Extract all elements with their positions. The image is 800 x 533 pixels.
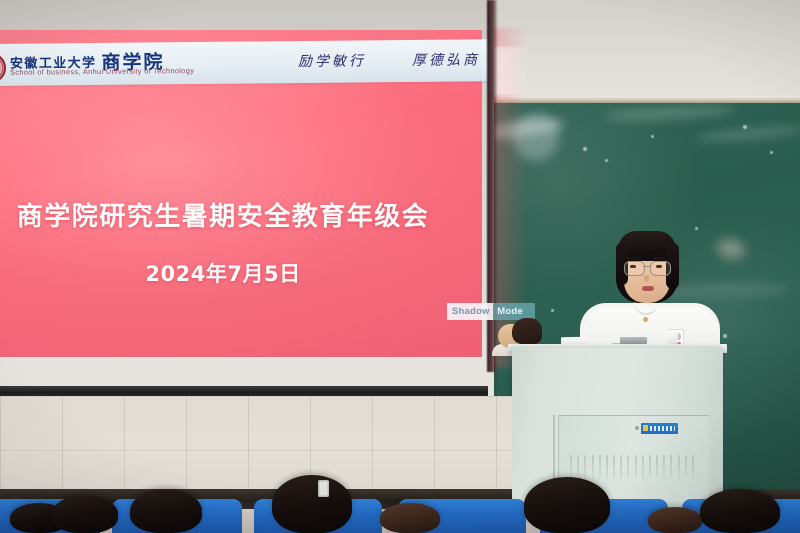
- vent-slat: [692, 455, 694, 479]
- vent-slat: [613, 455, 615, 479]
- vent-slat: [678, 455, 680, 479]
- projection-screen: 商学院研究生暑期安全教育年级会 2024年7月5日 安徽工业大学商学院 Scho…: [0, 0, 494, 398]
- vent-slat: [606, 455, 608, 479]
- shadow-mode-badge-left: Shadow: [447, 303, 493, 320]
- slogan-left: 励学敏行: [298, 50, 366, 71]
- wall-tile-grid: [0, 396, 512, 496]
- speaker-eyebrow-left: [627, 257, 639, 259]
- institution-name-en: School of business, Anhui University of …: [10, 66, 194, 77]
- sticker-text-lines: [650, 426, 675, 431]
- eyeglasses-icon: [623, 261, 673, 274]
- glasses-bridge: [643, 266, 650, 267]
- audience-head: [380, 503, 440, 533]
- sticker-mark: [643, 425, 648, 431]
- vent-slat: [577, 455, 579, 479]
- vent-slat: [592, 455, 594, 479]
- vent-slat: [627, 455, 629, 479]
- speaker-eyebrow-right: [653, 257, 665, 259]
- vent-slat: [656, 455, 658, 479]
- podium-vent-grille: [570, 455, 694, 479]
- vent-slat: [635, 455, 637, 479]
- slide-date: 2024年7月5日: [0, 258, 458, 288]
- glasses-lens-left: [624, 261, 645, 276]
- hair-clip: [318, 480, 329, 497]
- slogan-right: 厚德弘商: [412, 49, 480, 70]
- audience-head: [52, 495, 118, 533]
- vent-slat: [649, 455, 651, 479]
- speaker-necklace: [643, 317, 648, 322]
- audience-head: [130, 489, 202, 533]
- slide-title: 商学院研究生暑期安全教育年级会: [0, 196, 458, 233]
- vent-slat: [584, 455, 586, 479]
- podium-lock-icon: [635, 426, 639, 430]
- vent-slat: [663, 455, 665, 479]
- audience-head: [648, 507, 702, 533]
- podium-asset-sticker: [641, 423, 678, 434]
- vent-slat: [620, 455, 622, 479]
- audience-head: [272, 475, 352, 533]
- slide-header-band: 安徽工业大学商学院 School of business, Anhui Univ…: [0, 39, 488, 86]
- vent-slat: [642, 455, 644, 479]
- podium-cup: [667, 331, 678, 345]
- vent-slat: [670, 455, 672, 479]
- audience-head: [700, 489, 780, 533]
- vent-slat: [570, 455, 572, 479]
- classroom-scene: 商学院研究生暑期安全教育年级会 2024年7月5日 安徽工业大学商学院 Scho…: [0, 0, 800, 533]
- university-seal-icon: [0, 53, 6, 83]
- seated-person-hair: [512, 318, 542, 344]
- glasses-lens-right: [650, 261, 671, 276]
- podium-gray-device: [620, 337, 647, 344]
- audience-head: [524, 477, 610, 533]
- speaker-mouth: [642, 286, 654, 291]
- speaker-nose: [644, 275, 649, 282]
- speaker-presenter: [590, 225, 710, 350]
- vent-slat: [599, 455, 601, 479]
- vent-slat: [685, 455, 687, 479]
